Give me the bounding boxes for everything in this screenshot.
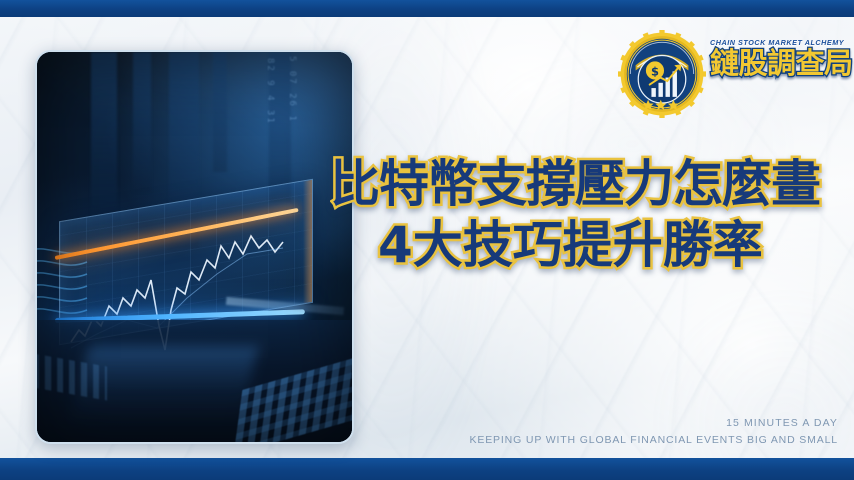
headline-line-1: 比特幣支撐壓力怎麼畫 xyxy=(330,158,840,211)
hero-image: 82 9 4 31 5 07 26 1 xyxy=(37,52,352,442)
svg-text:$: $ xyxy=(651,64,659,78)
ticker-digits: 5 07 26 1 xyxy=(287,56,297,160)
poster-canvas: 82 9 4 31 5 07 26 1 xyxy=(0,0,854,480)
brand-logo[interactable]: $ CHAIN STOCK MARKE xyxy=(618,30,844,118)
server-rack xyxy=(213,52,227,172)
top-navy-bar xyxy=(0,0,854,17)
hero-image-card: 82 9 4 31 5 07 26 1 xyxy=(35,50,354,444)
server-rack xyxy=(91,52,117,222)
headline-line-2: 4大技巧提升勝率 xyxy=(378,219,840,272)
brand-chinese-name: 鏈股調查局 xyxy=(710,49,844,78)
tagline-line-1: 15 MINUTES A DAY xyxy=(470,417,839,429)
tagline-block: 15 MINUTES A DAY KEEPING UP WITH GLOBAL … xyxy=(470,417,839,446)
ticker-digits: 82 9 4 31 xyxy=(265,58,275,154)
headline-block: 比特幣支撐壓力怎麼畫 4大技巧提升勝率 xyxy=(330,158,840,272)
tagline-line-2: KEEPING UP WITH GLOBAL FINANCIAL EVENTS … xyxy=(470,434,839,446)
server-rack xyxy=(133,52,151,192)
bottom-navy-bar xyxy=(0,458,854,480)
brand-logo-text: CHAIN STOCK MARKET ALCHEMY 鏈股調查局 xyxy=(710,38,844,78)
emblem-badge-icon: $ xyxy=(618,30,706,118)
